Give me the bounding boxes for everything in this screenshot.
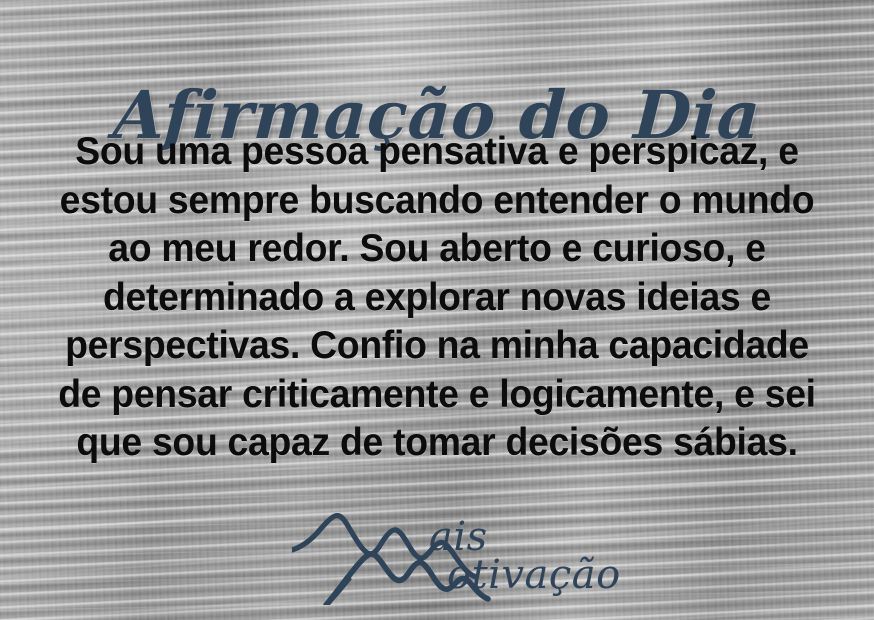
poster-content: Afirmação do Dia Sou uma pessoa pensativ… — [0, 0, 874, 620]
affirmation-text-block: Sou uma pessoa pensativa e perspicaz, e … — [22, 128, 852, 468]
affirmation-line: que sou capaz de tomar decisões sábias. — [34, 419, 839, 468]
affirmation-line: estou sempre buscando entender o mundo — [34, 177, 839, 226]
affirmation-line: de pensar criticamente e logicamente, e … — [34, 371, 839, 420]
brand-word-mais: ais — [429, 517, 488, 557]
brand-word-motivacao: otivação — [447, 555, 621, 595]
affirmation-poster: Afirmação do Dia Sou uma pessoa pensativ… — [0, 0, 874, 620]
brand-wordmark: ais otivação — [292, 505, 622, 613]
affirmation-line: ao meu redor. Sou aberto e curioso, e — [34, 225, 839, 274]
affirmation-line: determinado a explorar novas ideias e — [34, 274, 839, 323]
affirmation-line: Sou uma pessoa pensativa e perspicaz, e — [34, 128, 839, 177]
brand-logo: ais otivação — [292, 505, 622, 613]
affirmation-line: perspectivas. Confio na minha capacidade — [34, 322, 839, 371]
